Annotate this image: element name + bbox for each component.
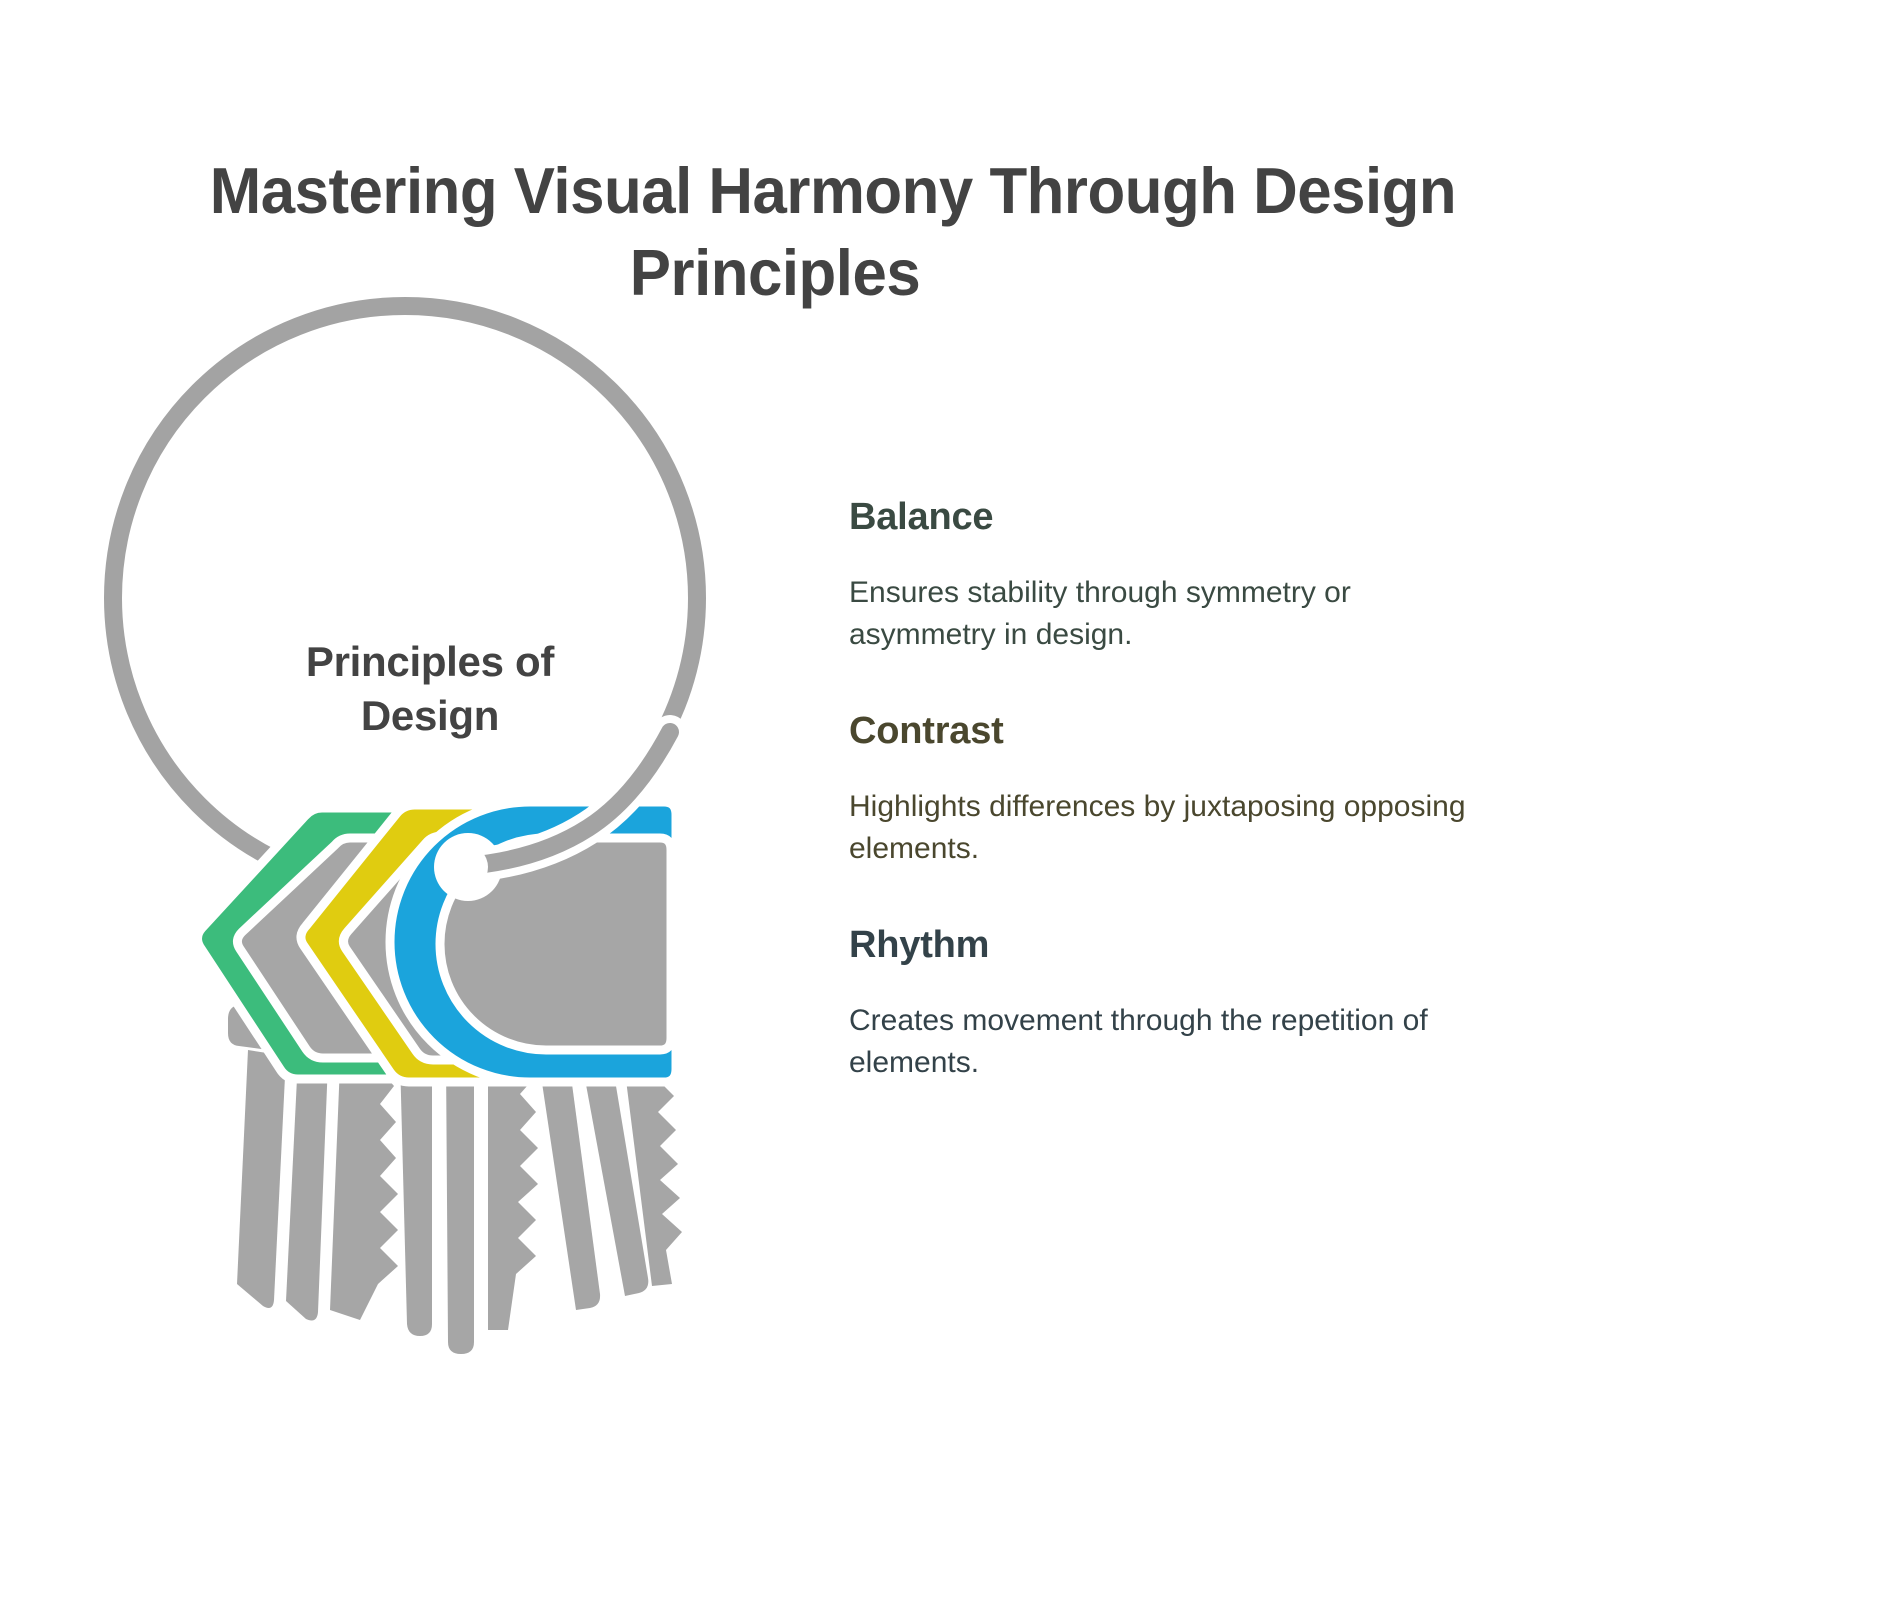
principle-item-balance: Balance Ensures stability through symmet… [849, 494, 1549, 656]
principle-heading-balance: Balance [849, 494, 1549, 540]
principle-description-balance: Ensures stability through symmetry or as… [849, 572, 1489, 656]
principle-item-rhythm: Rhythm Creates movement through the repe… [849, 922, 1549, 1084]
principles-list: Balance Ensures stability through symmet… [849, 494, 1549, 1084]
keyring-graphic [60, 260, 820, 1590]
principle-item-contrast: Contrast Highlights differences by juxta… [849, 708, 1549, 870]
principle-description-contrast: Highlights differences by juxtaposing op… [849, 786, 1489, 870]
principle-heading-rhythm: Rhythm [849, 922, 1549, 968]
page-title-line-1: Mastering Visual Harmony Through Design [210, 150, 1341, 232]
keyring-illustration: Principles of Design [60, 260, 820, 1590]
principle-description-rhythm: Creates movement through the repetition … [849, 1000, 1489, 1084]
principle-heading-contrast: Contrast [849, 708, 1549, 754]
